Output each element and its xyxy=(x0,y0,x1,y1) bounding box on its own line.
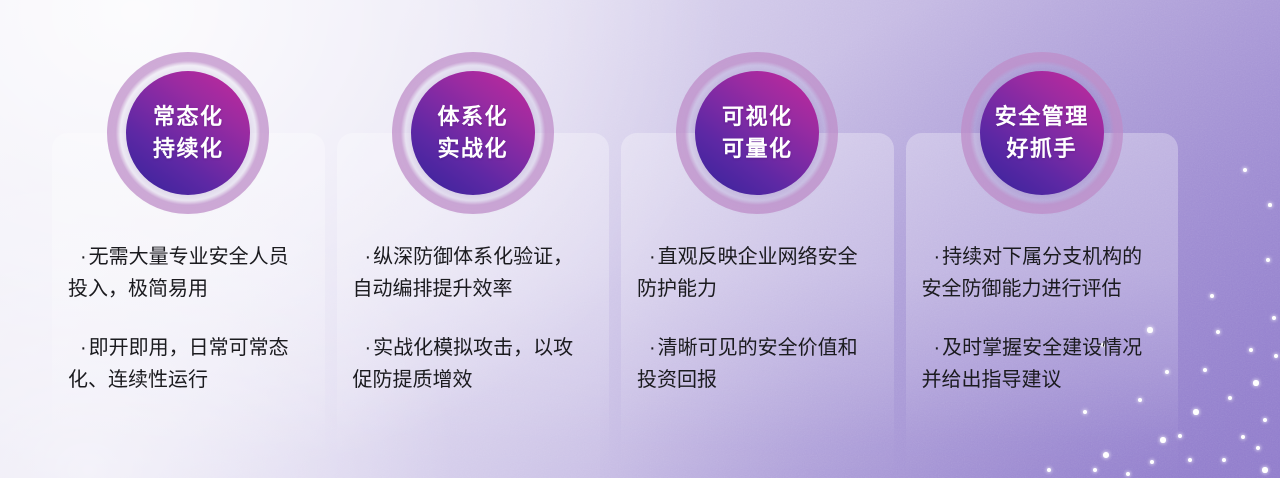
bullet-item: ·无需大量专业安全人员投入，极简易用 xyxy=(68,241,309,306)
bullet-item: ·清晰可见的安全价值和投资回报 xyxy=(637,332,878,397)
bullet-dot-icon: · xyxy=(934,337,941,359)
sparkle-dot xyxy=(1228,396,1232,400)
circle-title-line-1: 安全管理 xyxy=(995,104,1089,130)
bullet-dot-icon: · xyxy=(365,246,372,268)
bullet-item: ·直观反映企业网络安全防护能力 xyxy=(637,241,878,306)
bullet-item: ·纵深防御体系化验证，自动编排提升效率 xyxy=(353,241,594,306)
sparkle-dot xyxy=(1241,435,1245,439)
bullet-text: 及时掌握安全建设情况并给出指导建议 xyxy=(922,337,1143,391)
bullet-dot-icon: · xyxy=(649,246,656,268)
circle-disc: 可视化 可量化 xyxy=(695,71,819,195)
feature-card[interactable]: 可视化 可量化 ·直观反映企业网络安全防护能力 ·清晰可见的安全价值和投资回报 xyxy=(621,133,894,478)
sparkle-dot xyxy=(1203,368,1207,372)
circle-title-line-1: 常态化 xyxy=(153,104,224,130)
sparkle-dot xyxy=(1256,446,1261,451)
sparkle-dot xyxy=(1263,418,1268,423)
card-bullet-list: ·无需大量专业安全人员投入，极简易用 ·即开即用，日常可常态化、连续性运行 xyxy=(52,241,325,397)
circle-disc: 安全管理 好抓手 xyxy=(980,71,1104,195)
bullet-item: ·及时掌握安全建设情况并给出指导建议 xyxy=(922,332,1163,397)
sparkle-dot xyxy=(1210,294,1215,299)
feature-circle: 体系化 实战化 xyxy=(392,52,554,214)
circle-title-line-2: 可量化 xyxy=(722,136,793,162)
sparkle-dot xyxy=(1274,354,1278,358)
sparkle-dot xyxy=(1253,380,1258,385)
sparkle-dot xyxy=(1178,434,1182,438)
sparkle-dot xyxy=(1249,348,1254,353)
bullet-text: 持续对下属分支机构的安全防御能力进行评估 xyxy=(922,246,1143,300)
bullet-item: ·实战化模拟攻击，以攻促防提质增效 xyxy=(353,332,594,397)
circle-title-line-2: 持续化 xyxy=(153,136,224,162)
circle-title-line-1: 可视化 xyxy=(722,104,793,130)
bullet-dot-icon: · xyxy=(365,337,372,359)
sparkle-dot xyxy=(1216,330,1220,334)
bullet-text: 即开即用，日常可常态化、连续性运行 xyxy=(68,337,289,391)
bullet-text: 直观反映企业网络安全防护能力 xyxy=(637,246,858,300)
bullet-dot-icon: · xyxy=(80,246,87,268)
circle-title-line-1: 体系化 xyxy=(437,104,508,130)
feature-card-row: 常态化 持续化 ·无需大量专业安全人员投入，极简易用 ·即开即用，日常可常态化、… xyxy=(52,133,1178,478)
sparkle-dot xyxy=(1266,258,1270,262)
bullet-text: 清晰可见的安全价值和投资回报 xyxy=(637,337,858,391)
bullet-text: 纵深防御体系化验证，自动编排提升效率 xyxy=(353,246,574,300)
card-bullet-list: ·直观反映企业网络安全防护能力 ·清晰可见的安全价值和投资回报 xyxy=(621,241,894,397)
sparkle-dot xyxy=(1262,467,1267,472)
sparkle-dot xyxy=(1268,203,1272,207)
bullet-text: 无需大量专业安全人员投入，极简易用 xyxy=(68,246,289,300)
card-bullet-list: ·持续对下属分支机构的安全防御能力进行评估 ·及时掌握安全建设情况并给出指导建议 xyxy=(906,241,1179,397)
circle-title-line-2: 好抓手 xyxy=(1006,136,1077,162)
feature-card[interactable]: 常态化 持续化 ·无需大量专业安全人员投入，极简易用 ·即开即用，日常可常态化、… xyxy=(52,133,325,478)
bullet-dot-icon: · xyxy=(80,337,87,359)
circle-disc: 体系化 实战化 xyxy=(411,71,535,195)
bullet-text: 实战化模拟攻击，以攻促防提质增效 xyxy=(353,337,574,391)
feature-card[interactable]: 安全管理 好抓手 ·持续对下属分支机构的安全防御能力进行评估 ·及时掌握安全建设… xyxy=(906,133,1179,478)
bullet-item: ·持续对下属分支机构的安全防御能力进行评估 xyxy=(922,241,1163,306)
sparkle-dot xyxy=(1193,409,1198,414)
sparkle-dot xyxy=(1243,168,1247,172)
bullet-item: ·即开即用，日常可常态化、连续性运行 xyxy=(68,332,309,397)
circle-title-line-2: 实战化 xyxy=(437,136,508,162)
feature-circle: 安全管理 好抓手 xyxy=(961,52,1123,214)
feature-circle: 可视化 可量化 xyxy=(676,52,838,214)
feature-card[interactable]: 体系化 实战化 ·纵深防御体系化验证，自动编排提升效率 ·实战化模拟攻击，以攻促… xyxy=(337,133,610,478)
sparkle-dot xyxy=(1188,458,1193,463)
feature-circle: 常态化 持续化 xyxy=(107,52,269,214)
circle-disc: 常态化 持续化 xyxy=(126,71,250,195)
bullet-dot-icon: · xyxy=(649,337,656,359)
card-bullet-list: ·纵深防御体系化验证，自动编排提升效率 ·实战化模拟攻击，以攻促防提质增效 xyxy=(337,241,610,397)
sparkle-dot xyxy=(1272,316,1276,320)
sparkle-dot xyxy=(1222,458,1227,463)
infographic-stage: 常态化 持续化 ·无需大量专业安全人员投入，极简易用 ·即开即用，日常可常态化、… xyxy=(0,0,1280,478)
bullet-dot-icon: · xyxy=(934,246,941,268)
